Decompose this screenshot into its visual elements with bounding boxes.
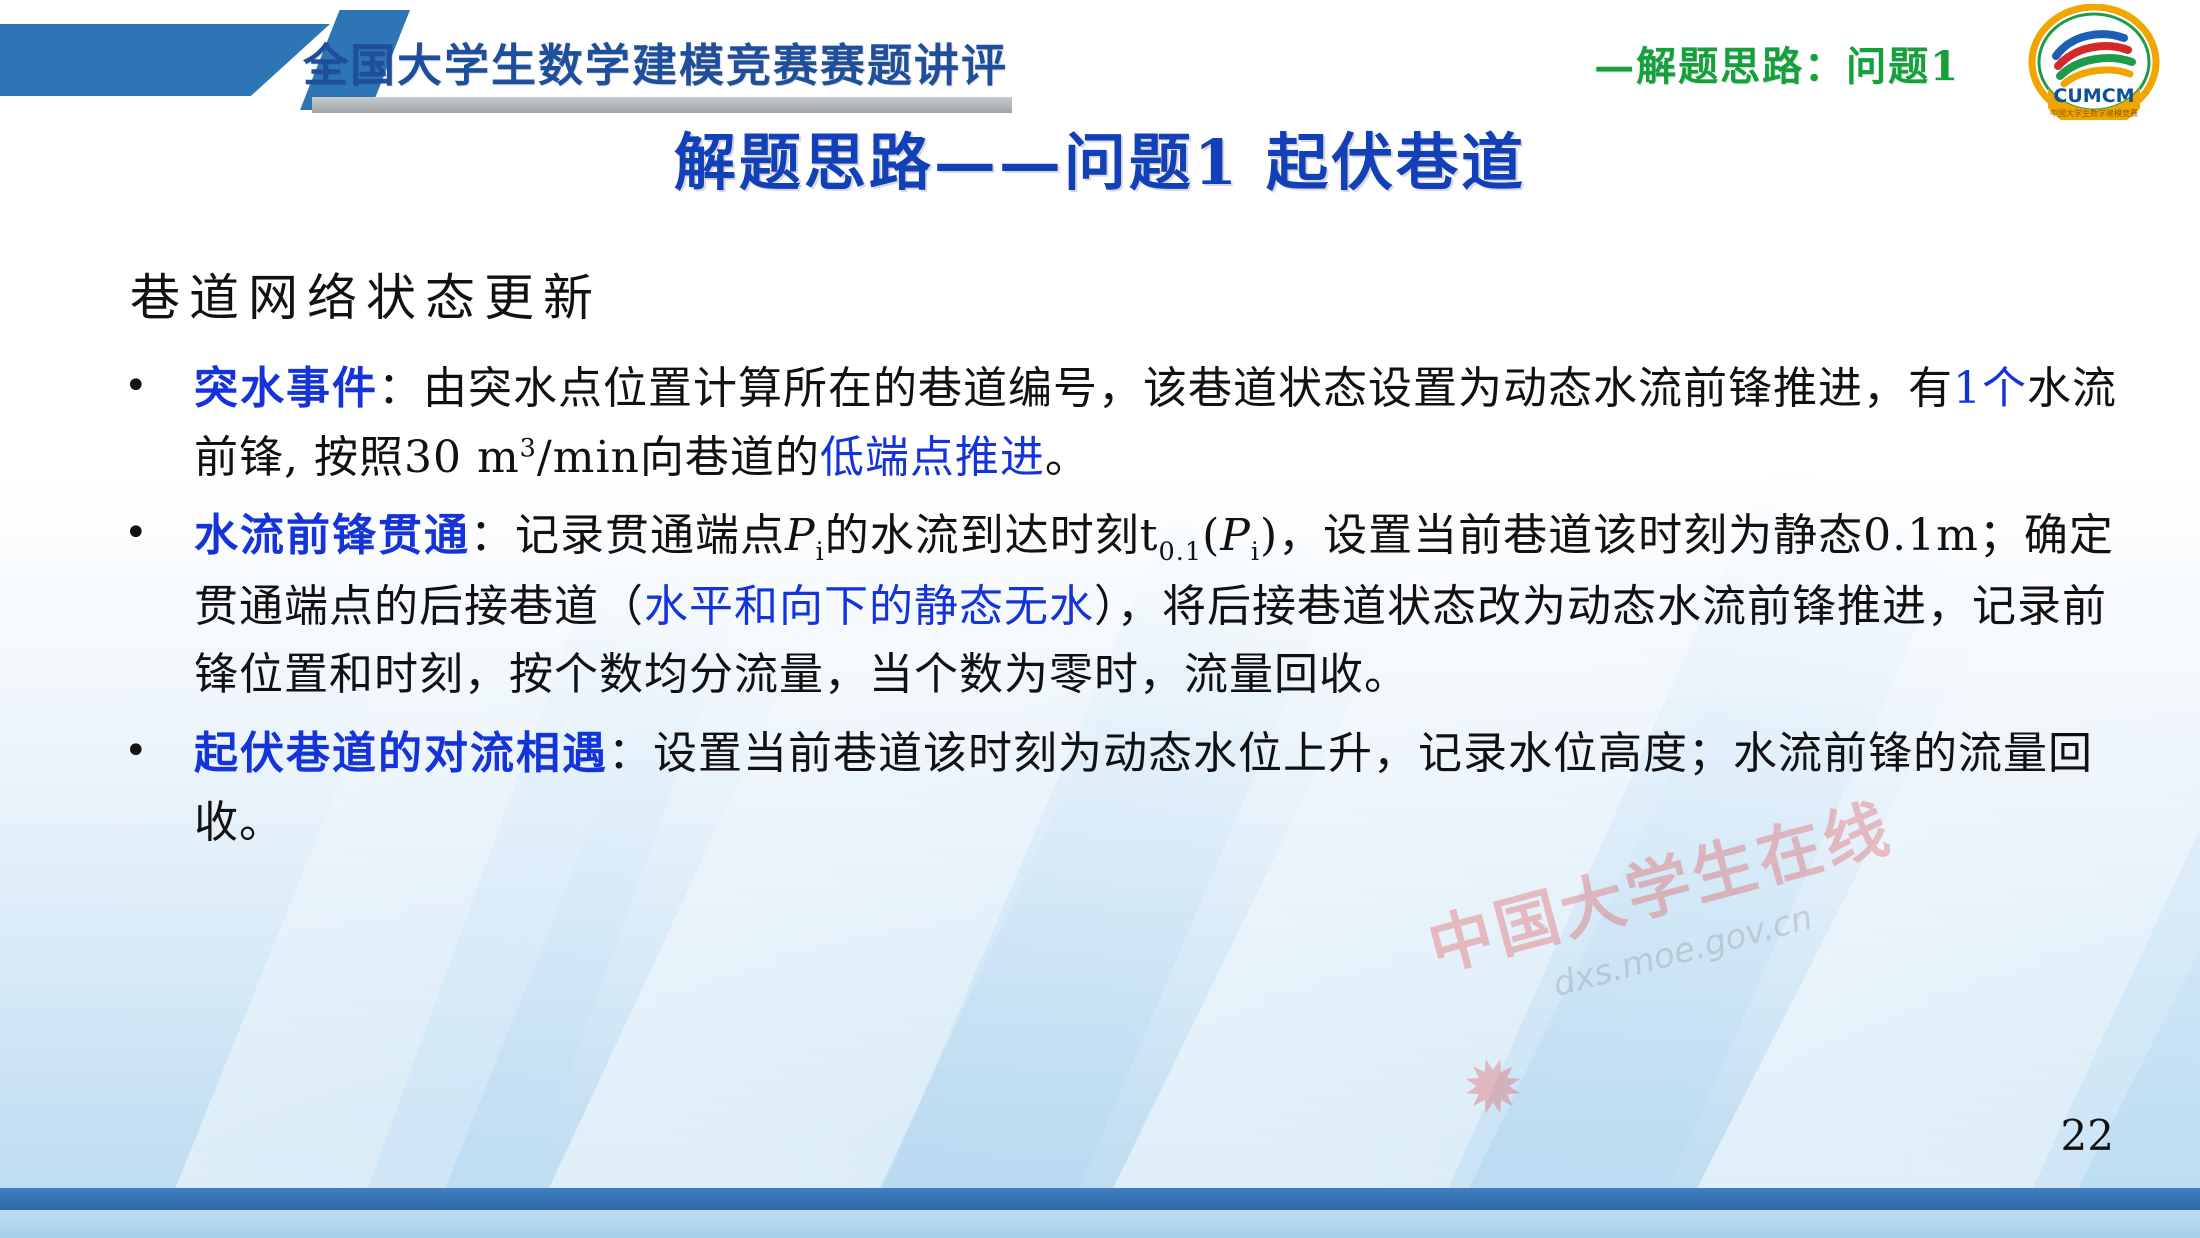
bullet-text-segment: /min向巷道的 bbox=[537, 432, 820, 483]
bullet-label: 起伏巷道的对流相遇 bbox=[194, 728, 608, 779]
bullet-item: •起伏巷道的对流相遇：设置当前巷道该时刻为动态水位上升，记录水位高度；水流前锋的… bbox=[118, 720, 2120, 857]
page-title: 解题思路——问题1起伏巷道 bbox=[0, 112, 2200, 202]
bullet-item: •突水事件：由突水点位置计算所在的巷道编号，该巷道状态设置为动态水流前锋推进，有… bbox=[118, 355, 2120, 492]
page-number: 22 bbox=[2061, 1111, 2114, 1160]
slide-canvas: 全国大学生数学建模竞赛赛题讲评 —解题思路：问题1 CUMCM 中国大学生数学建… bbox=[0, 0, 2200, 1238]
svg-text:CUMCM: CUMCM bbox=[2053, 85, 2134, 107]
header-section-label: —解题思路：问题1 bbox=[1594, 34, 1960, 92]
bullet-text-segment: 水平和向下的静态无水 bbox=[644, 581, 1094, 632]
bullet-text-segment: 低端点推进 bbox=[820, 432, 1045, 483]
page-title-part2: 起伏巷道 bbox=[1266, 126, 1526, 199]
footer-bar-lower bbox=[0, 1210, 2200, 1238]
bullet-label: 水流前锋贯通 bbox=[194, 510, 470, 561]
bullet-text-segment: 1个 bbox=[1953, 363, 2027, 414]
bullet-marker-icon: • bbox=[118, 502, 194, 564]
bullet-text-segment: 。 bbox=[1045, 432, 1090, 483]
cumcm-logo: CUMCM 中国大学生数学建模竞赛 bbox=[2006, 4, 2182, 120]
watermark-star-icon: ✹ bbox=[1452, 1038, 1534, 1137]
bullet-text-segment: ( bbox=[1202, 510, 1220, 561]
bullet-marker-icon: • bbox=[118, 720, 194, 782]
section-subtitle: 巷道网络状态更新 bbox=[130, 258, 602, 330]
page-title-part1: 解题思路——问题1 bbox=[674, 126, 1240, 199]
bullet-text-segment: i bbox=[1251, 537, 1260, 567]
bullet-text: 水流前锋贯通：记录贯通端点Pi的水流到达时刻t0.1(Pi)，设置当前巷道该时刻… bbox=[194, 502, 2120, 710]
bullet-text-segment: 0.1 bbox=[1158, 537, 1202, 567]
bullet-list: •突水事件：由突水点位置计算所在的巷道编号，该巷道状态设置为动态水流前锋推进，有… bbox=[118, 355, 2120, 867]
bullet-marker-icon: • bbox=[118, 355, 194, 417]
header-title: 全国大学生数学建模竞赛赛题讲评 bbox=[248, 26, 1008, 96]
header-grey-underline bbox=[312, 97, 1012, 113]
bullet-item: •水流前锋贯通：记录贯通端点Pi的水流到达时刻t0.1(Pi)，设置当前巷道该时… bbox=[118, 502, 2120, 710]
bullet-text-segment: ：由突水点位置计算所在的巷道编号，该巷道状态设置为动态水流前锋推进，有 bbox=[378, 363, 1953, 414]
bullet-label: 突水事件 bbox=[194, 363, 378, 414]
bullet-text-segment: ：记录贯通端点 bbox=[470, 510, 785, 561]
bullet-text-segment: i bbox=[816, 537, 825, 567]
bullet-text-segment: 3 bbox=[520, 433, 537, 463]
footer-bar bbox=[0, 1188, 2200, 1210]
bullet-text-segment: 的水流到达时刻t bbox=[825, 510, 1159, 561]
bullet-text: 起伏巷道的对流相遇：设置当前巷道该时刻为动态水位上升，记录水位高度；水流前锋的流… bbox=[194, 720, 2120, 857]
bullet-text: 突水事件：由突水点位置计算所在的巷道编号，该巷道状态设置为动态水流前锋推进，有1… bbox=[194, 355, 2120, 492]
bullet-text-segment: P bbox=[785, 510, 816, 561]
bullet-text-segment: P bbox=[1220, 510, 1251, 561]
